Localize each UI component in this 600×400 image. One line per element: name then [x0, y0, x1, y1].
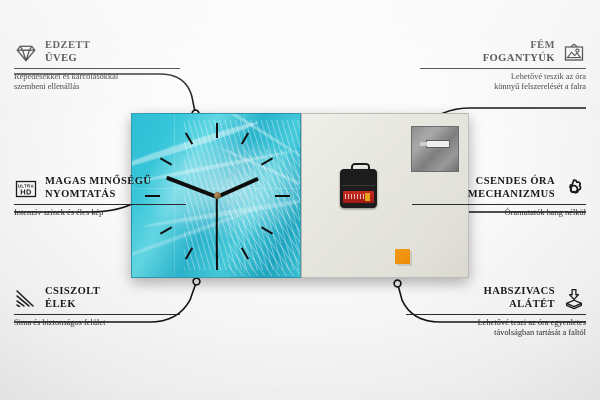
feature-metal-handles: FÉM FOGANTYÚK Lehetővé teszik az óra kön…: [420, 40, 586, 93]
foam-pad-icon: [562, 287, 586, 311]
foam-pad: [395, 249, 410, 264]
feature-heading: FÉM FOGANTYÚK: [420, 40, 586, 65]
feature-high-quality-print: ultra HD MAGAS MINŐSÉGŰ NYOMTATÁS Intenz…: [14, 176, 186, 218]
hour-marker: [160, 157, 172, 165]
feature-polished-edges: CSISZOLT ÉLEK Sima és biztonságos felüle…: [14, 286, 180, 328]
battery-label-text: [345, 194, 365, 199]
feature-title: CSISZOLT ÉLEK: [45, 286, 100, 311]
divider: [14, 204, 186, 205]
polished-edge-icon: [14, 287, 38, 311]
feature-subtitle: Lehetővé teszi az óra egyenletes távolsá…: [406, 318, 586, 339]
feature-subtitle: Intenzív színek és éles kép: [14, 208, 186, 218]
hanger-slot: [426, 140, 450, 148]
feature-subtitle: Sima és biztonságos felület: [14, 318, 180, 328]
divider: [14, 314, 180, 315]
divider: [406, 314, 586, 315]
feature-subtitle: Óramutatók hang nélkül: [412, 208, 586, 218]
feature-title: MAGAS MINŐSÉGŰ NYOMTATÁS: [45, 176, 151, 201]
feature-foam-pad: HABSZIVACS ALÁTÉT Lehetővé teszi az óra …: [406, 286, 586, 339]
feature-title: EDZETT ÜVEG: [45, 40, 90, 65]
clock-mechanism: [340, 169, 377, 208]
feature-subtitle: Lehetővé teszik az óra könnyű felszerelé…: [420, 72, 586, 93]
feature-heading: HABSZIVACS ALÁTÉT: [406, 286, 586, 311]
mechanism-seam: [342, 185, 375, 186]
feature-title: FÉM FOGANTYÚK: [483, 40, 555, 65]
svg-text:HD: HD: [20, 187, 32, 196]
second-hand: [216, 196, 218, 258]
divider: [412, 204, 586, 205]
picture-hanger-icon: [562, 41, 586, 65]
infographic-canvas: EDZETT ÜVEG Repedésekkel és karcolásokka…: [0, 0, 600, 400]
battery-label: [343, 191, 374, 203]
mechanism-hook: [351, 163, 370, 173]
clock-center-cap: [214, 192, 221, 199]
feature-heading: CSENDES ÓRA MECHANIZMUS: [412, 176, 586, 201]
feature-heading: CSISZOLT ÉLEK: [14, 286, 180, 311]
ultra-hd-icon: ultra HD: [14, 177, 38, 201]
feature-heading: ultra HD MAGAS MINŐSÉGŰ NYOMTATÁS: [14, 176, 186, 201]
feature-tempered-glass: EDZETT ÜVEG Repedésekkel és karcolásokka…: [14, 40, 180, 93]
gear-icon: [562, 177, 586, 201]
hour-marker: [216, 123, 218, 138]
feature-silent-mechanism: CSENDES ÓRA MECHANIZMUS Óramutatók hang …: [412, 176, 586, 218]
metal-hanger: [411, 126, 459, 172]
hour-marker: [160, 226, 172, 234]
feature-heading: EDZETT ÜVEG: [14, 40, 180, 65]
divider: [420, 68, 586, 69]
feature-title: CSENDES ÓRA MECHANIZMUS: [468, 176, 555, 201]
divider: [14, 68, 180, 69]
hour-marker: [275, 195, 290, 197]
diamond-icon: [14, 41, 38, 65]
feature-subtitle: Repedésekkel és karcolásokkal szembeni e…: [14, 72, 180, 93]
feature-title: HABSZIVACS ALÁTÉT: [484, 286, 555, 311]
